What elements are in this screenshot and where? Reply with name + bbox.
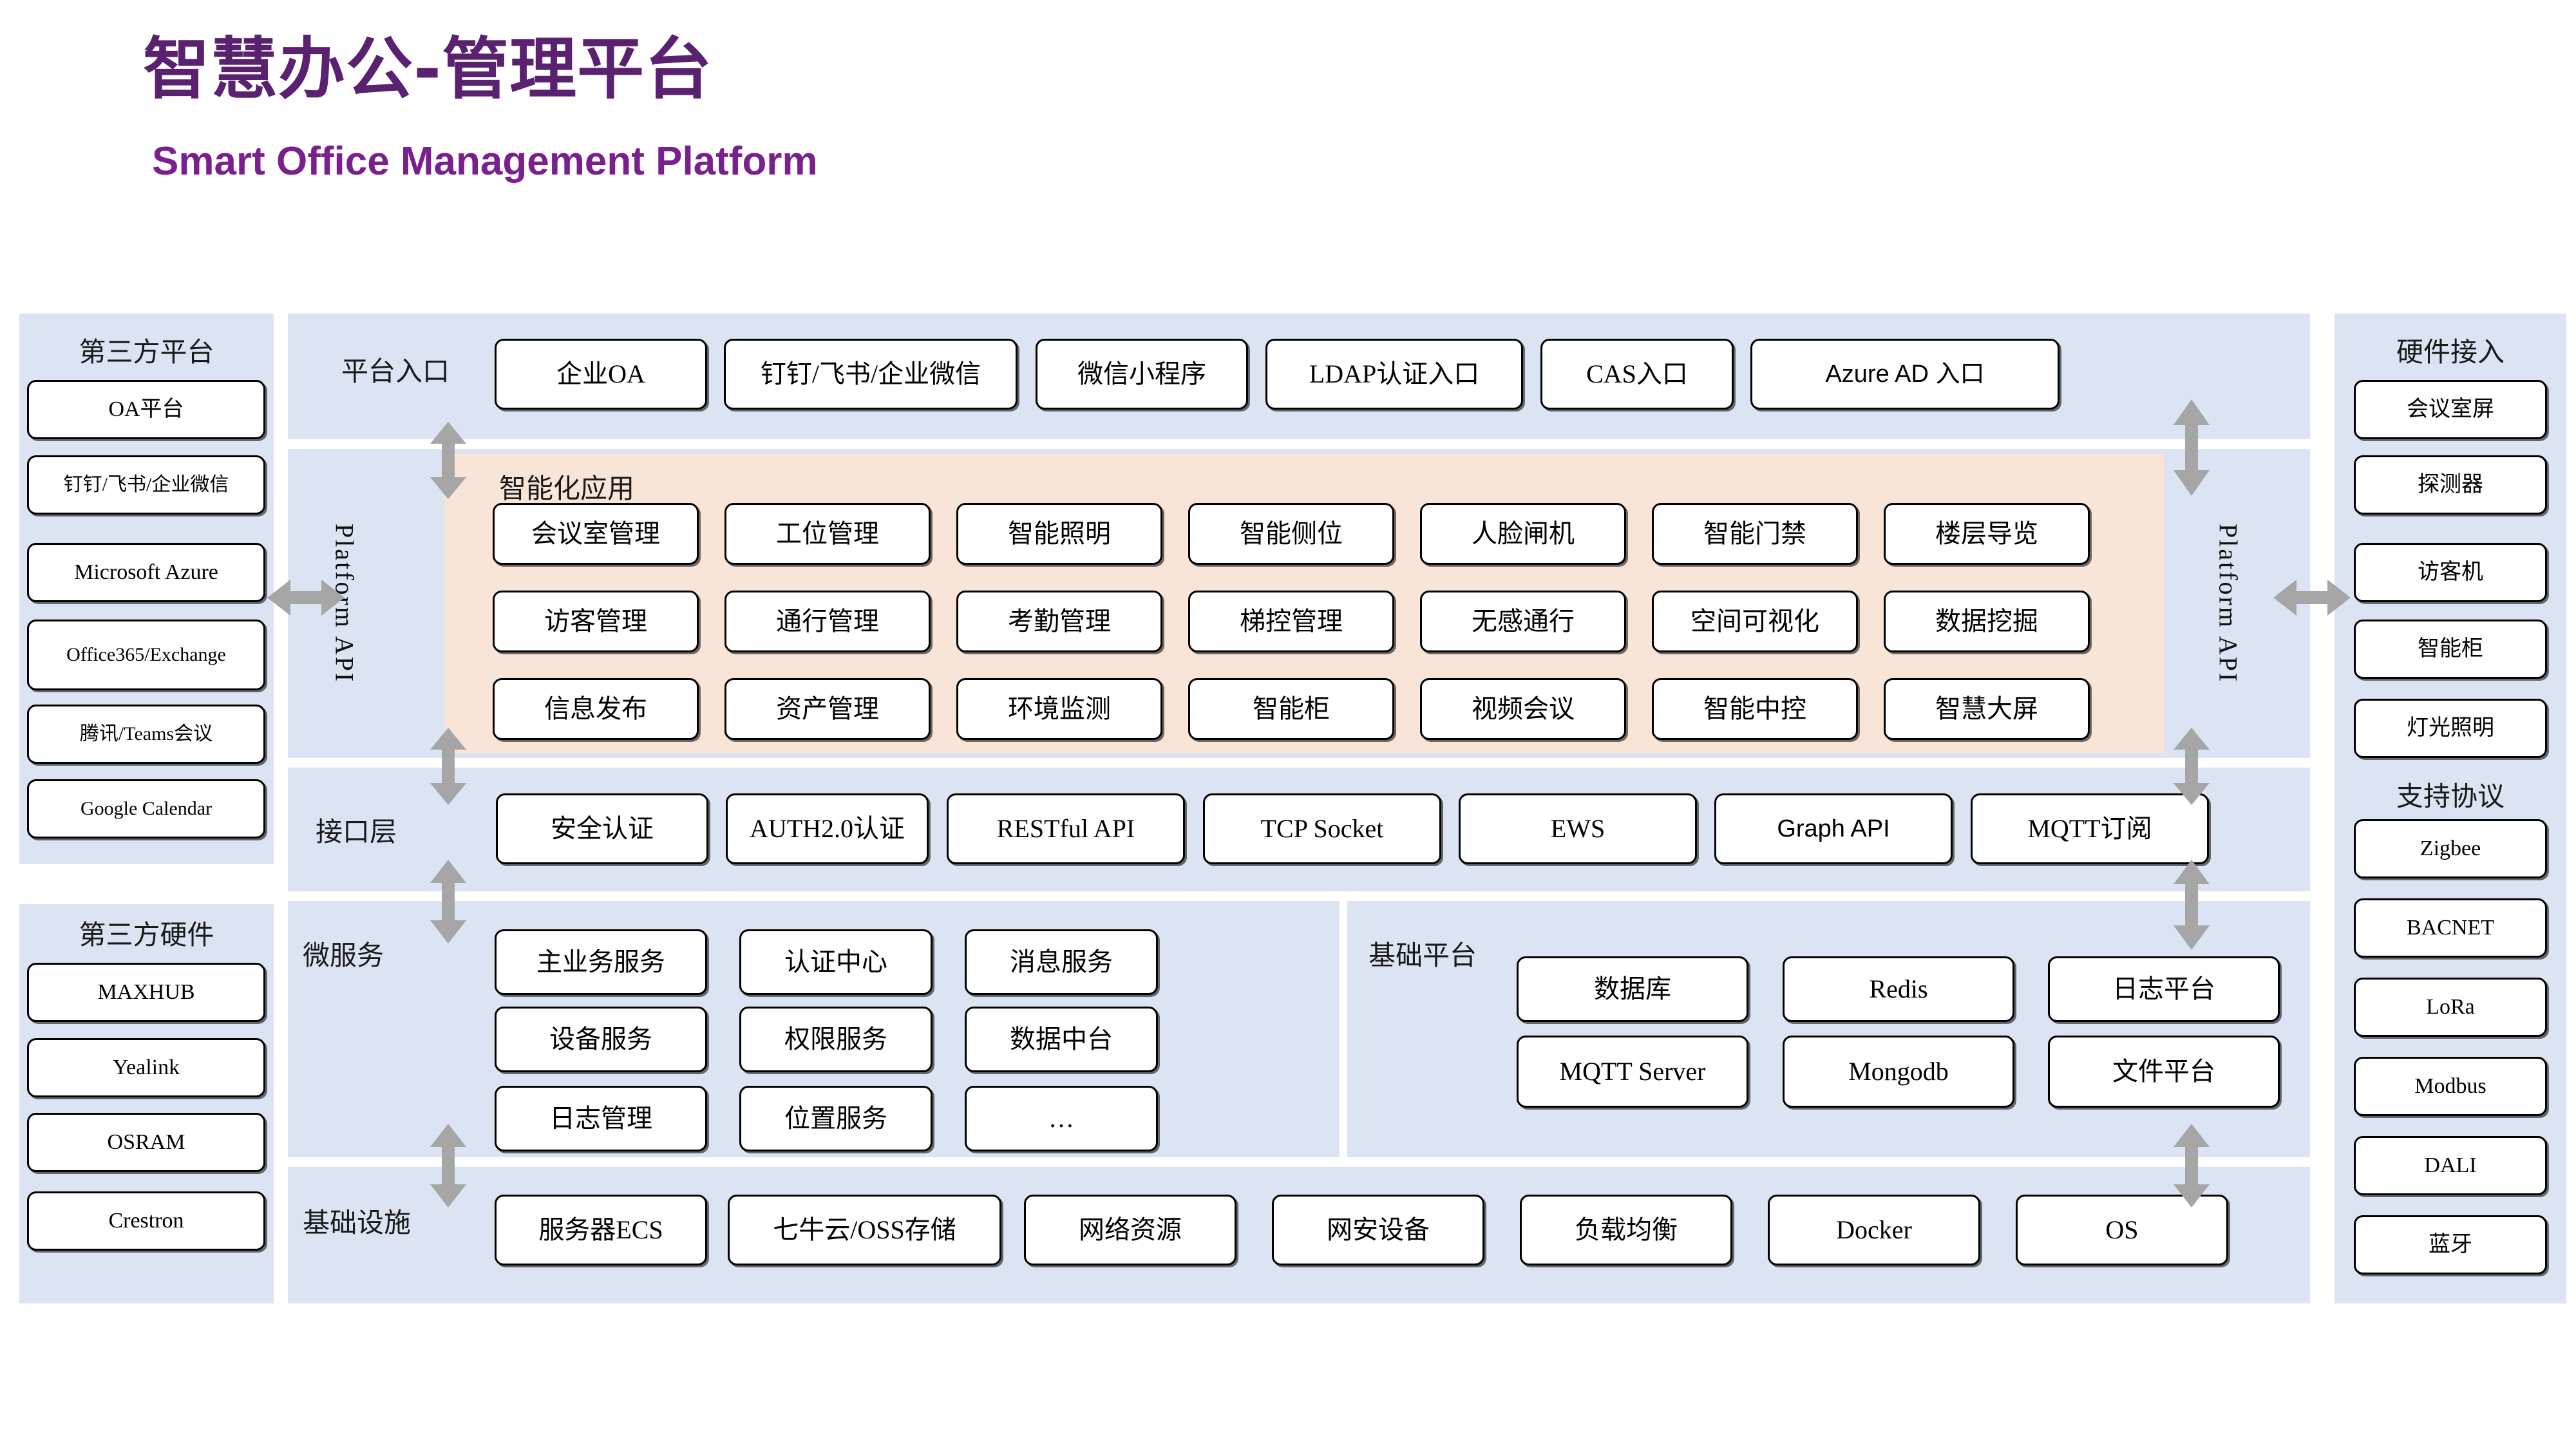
list-item[interactable]: 灯光照明	[2354, 699, 2547, 758]
app-node[interactable]: 智能中控	[1652, 678, 1858, 740]
entry-node[interactable]: 钉钉/飞书/企业微信	[724, 339, 1018, 410]
third-party-hardware-heading: 第三方硬件	[19, 913, 274, 952]
list-item[interactable]: Yealink	[27, 1038, 265, 1097]
list-item[interactable]: 访客机	[2354, 543, 2547, 602]
base-platform-node[interactable]: 日志平台	[2048, 956, 2280, 1022]
entry-node[interactable]: 企业OA	[495, 339, 707, 410]
app-node[interactable]: 通行管理	[724, 591, 931, 652]
page-title-zh: 智慧办公-管理平台	[143, 31, 712, 108]
list-item[interactable]: LoRa	[2354, 978, 2547, 1037]
infrastructure-node[interactable]: 网络资源	[1024, 1195, 1236, 1265]
list-item[interactable]: DALI	[2354, 1136, 2547, 1195]
app-node[interactable]: 数据挖掘	[1884, 591, 2090, 652]
list-item[interactable]: 钉钉/飞书/企业微信	[27, 455, 265, 515]
app-node[interactable]: 访客管理	[493, 591, 699, 652]
arrow-right-base-infrastructure-icon	[2173, 1124, 2210, 1207]
microservice-node[interactable]: 主业务服务	[495, 929, 707, 995]
row-label-interface: 接口层	[316, 810, 397, 849]
arrow-right-interface-base-icon	[2173, 860, 2210, 950]
app-node[interactable]: 智能门禁	[1652, 503, 1858, 565]
arrow-entry-apps-icon	[430, 422, 466, 499]
app-node[interactable]: 工位管理	[724, 503, 931, 565]
app-node[interactable]: 环境监测	[956, 678, 1162, 740]
microservice-node[interactable]: 日志管理	[495, 1086, 707, 1151]
list-item[interactable]: Office365/Exchange	[27, 620, 265, 690]
arrow-microservices-infrastructure-icon	[430, 1124, 466, 1207]
list-item[interactable]: 蓝牙	[2354, 1215, 2547, 1274]
infrastructure-node[interactable]: 服务器ECS	[495, 1195, 707, 1265]
list-item[interactable]: Crestron	[27, 1191, 265, 1251]
arrow-right-entry-apps-icon	[2173, 399, 2210, 496]
list-item[interactable]: 探测器	[2354, 455, 2547, 515]
app-node[interactable]: 智能柜	[1188, 678, 1394, 740]
platform-api-right: Platform API	[2186, 454, 2270, 753]
row-label-apps: 智能化应用	[499, 467, 634, 506]
third-party-platform-heading: 第三方平台	[19, 330, 274, 370]
app-node[interactable]: 梯控管理	[1188, 591, 1394, 652]
microservice-node[interactable]: 权限服务	[739, 1007, 933, 1072]
page-title-en: Smart Office Management Platform	[152, 138, 818, 184]
app-node[interactable]: 考勤管理	[956, 591, 1162, 652]
interface-node[interactable]: AUTH2.0认证	[726, 793, 929, 864]
list-item[interactable]: BACNET	[2354, 898, 2547, 958]
platform-api-right-label: Platform API	[2213, 524, 2244, 683]
entry-node[interactable]: CAS入口	[1540, 339, 1734, 410]
arrow-apps-interface-icon	[430, 728, 466, 805]
list-item[interactable]: 腾讯/Teams会议	[27, 705, 265, 764]
app-node[interactable]: 信息发布	[493, 678, 699, 740]
base-platform-node[interactable]: 数据库	[1517, 956, 1748, 1022]
list-item[interactable]: Zigbee	[2354, 819, 2547, 878]
row-label-microservices: 微服务	[303, 934, 384, 973]
list-item[interactable]: Google Calendar	[27, 779, 265, 838]
base-platform-node[interactable]: MQTT Server	[1517, 1036, 1748, 1108]
arrow-left-sidebar-api-icon	[267, 580, 345, 616]
base-platform-node[interactable]: Redis	[1783, 956, 2014, 1022]
base-platform-node[interactable]: 文件平台	[2048, 1036, 2280, 1108]
microservice-node[interactable]: 消息服务	[965, 929, 1158, 995]
arrow-interface-microservices-icon	[430, 860, 466, 943]
microservice-node[interactable]: 设备服务	[495, 1007, 707, 1072]
microservice-node[interactable]: 认证中心	[739, 929, 933, 995]
app-node[interactable]: 资产管理	[724, 678, 931, 740]
hardware-access-heading: 硬件接入	[2334, 330, 2566, 370]
app-node[interactable]: 视频会议	[1420, 678, 1626, 740]
microservice-node[interactable]: 位置服务	[739, 1086, 933, 1151]
arrow-right-apps-interface-icon	[2173, 728, 2210, 805]
list-item[interactable]: 智能柜	[2354, 620, 2547, 679]
list-item[interactable]: Modbus	[2354, 1057, 2547, 1116]
diagram-canvas: 智慧办公-管理平台 Smart Office Management Platfo…	[0, 0, 2576, 1449]
interface-node[interactable]: EWS	[1459, 793, 1697, 864]
interface-node[interactable]: Graph API	[1714, 793, 1953, 864]
infrastructure-node[interactable]: 网安设备	[1272, 1195, 1484, 1265]
interface-node[interactable]: 安全认证	[496, 793, 708, 864]
row-label-base-platform: 基础平台	[1368, 934, 1477, 973]
infrastructure-node[interactable]: 负载均衡	[1520, 1195, 1732, 1265]
app-node[interactable]: 智慧大屏	[1884, 678, 2090, 740]
app-node[interactable]: 人脸闸机	[1420, 503, 1626, 565]
infrastructure-node[interactable]: 七牛云/OSS存储	[728, 1195, 1001, 1265]
entry-node[interactable]: 微信小程序	[1036, 339, 1248, 410]
app-node[interactable]: 智能照明	[956, 503, 1162, 565]
list-item[interactable]: MAXHUB	[27, 963, 265, 1022]
entry-node[interactable]: LDAP认证入口	[1265, 339, 1523, 410]
protocols-heading: 支持协议	[2334, 775, 2566, 814]
app-node[interactable]: 智能侧位	[1188, 503, 1394, 565]
list-item[interactable]: Microsoft Azure	[27, 543, 265, 602]
list-item[interactable]: OA平台	[27, 380, 265, 439]
arrow-api-right-sidebar-icon	[2273, 580, 2351, 616]
list-item[interactable]: 会议室屏	[2354, 380, 2547, 439]
microservice-node[interactable]: 数据中台	[965, 1007, 1158, 1072]
app-node[interactable]: 空间可视化	[1652, 591, 1858, 652]
microservice-node[interactable]: …	[965, 1086, 1158, 1151]
list-item[interactable]: OSRAM	[27, 1113, 265, 1172]
entry-node[interactable]: Azure AD 入口	[1750, 339, 2060, 410]
base-platform-row-band	[1347, 901, 2310, 1157]
interface-node[interactable]: RESTful API	[947, 793, 1185, 864]
base-platform-node[interactable]: Mongodb	[1783, 1036, 2014, 1108]
interface-node[interactable]: TCP Socket	[1203, 793, 1441, 864]
app-node[interactable]: 楼层导览	[1884, 503, 2090, 565]
row-label-entry: 平台入口	[341, 350, 450, 389]
infrastructure-node[interactable]: Docker	[1768, 1195, 1980, 1265]
app-node[interactable]: 无感通行	[1420, 591, 1626, 652]
row-label-infrastructure: 基础设施	[303, 1201, 411, 1240]
app-node[interactable]: 会议室管理	[493, 503, 699, 565]
